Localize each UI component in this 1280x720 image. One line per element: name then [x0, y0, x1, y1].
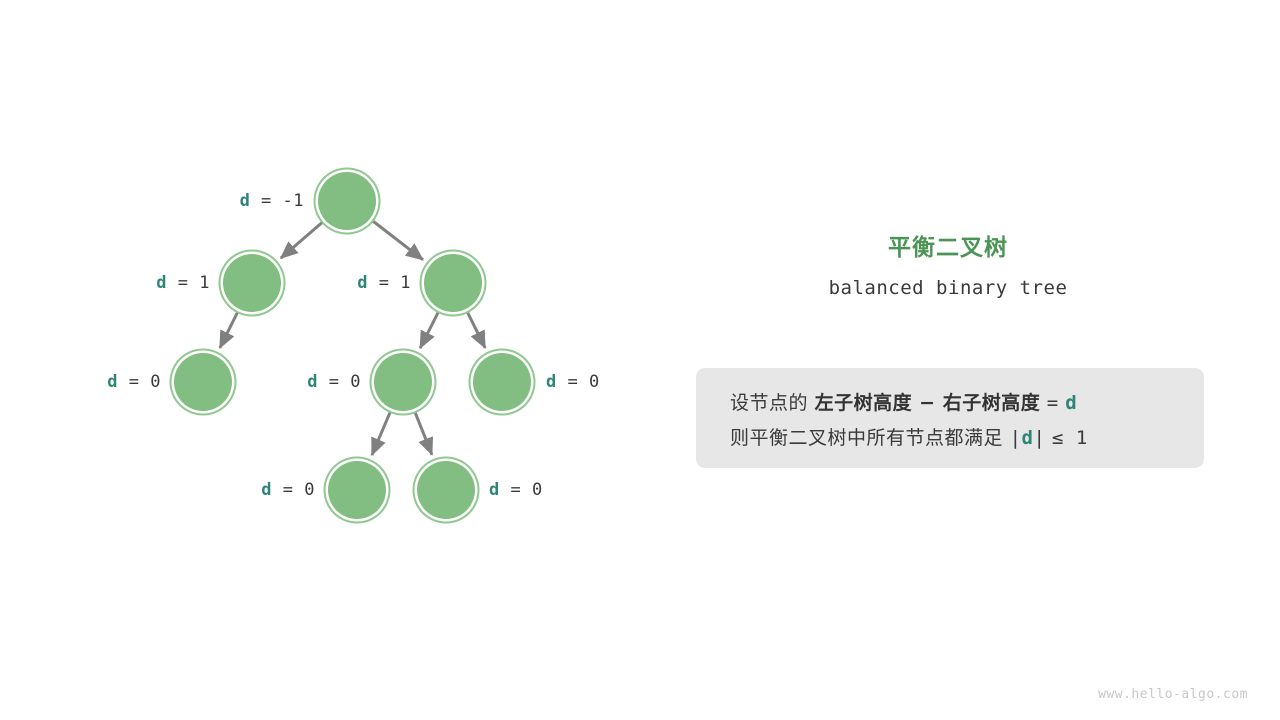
formula-bold-term: 左子树高度 − 右子树高度: [815, 392, 1041, 414]
node-balance-label: d = 0: [261, 480, 315, 500]
balance-variable: d: [261, 480, 272, 500]
tree-edge: [467, 312, 485, 348]
constraint-prefix: 则平衡二叉树中所有节点都满足: [730, 427, 1003, 449]
tree-edge: [372, 412, 390, 455]
panel-title: 平衡二叉树: [660, 228, 1236, 262]
balance-value: = 1: [167, 273, 210, 293]
balance-variable: d: [307, 372, 318, 392]
info-panel: 平衡二叉树 balanced binary tree 设节点的 左子树高度 − …: [660, 0, 1280, 720]
tree-node: [328, 461, 386, 519]
illustration-page: d = -1d = 1d = 1d = 0d = 0d = 0d = 0d = …: [0, 0, 1280, 720]
formula-equals: =: [1047, 392, 1059, 414]
tree-node: [174, 353, 232, 411]
formula-prefix: 设节点的: [730, 392, 808, 414]
balance-value: = 0: [557, 372, 600, 392]
tree-edge: [373, 221, 423, 260]
tree-node: [318, 172, 376, 230]
node-balance-label: d = 1: [357, 273, 411, 293]
tree-edge: [420, 312, 438, 348]
balance-variable: d: [546, 372, 557, 392]
formula-box: 设节点的 左子树高度 − 右子树高度 = d 则平衡二叉树中所有节点都满足 |d…: [696, 368, 1204, 468]
balance-variable: d: [240, 191, 251, 211]
tree-edge-layer: [0, 0, 660, 720]
formula-variable-d: d: [1065, 392, 1077, 414]
tree-node: [424, 254, 482, 312]
balance-value: = 0: [272, 480, 315, 500]
tree-edge: [281, 222, 323, 258]
balance-value: = 1: [368, 273, 411, 293]
panel-subtitle: balanced binary tree: [660, 277, 1236, 299]
node-balance-label: d = 0: [489, 480, 543, 500]
site-watermark: www.hello-algo.com: [1098, 687, 1248, 702]
formula-line-definition: 设节点的 左子树高度 − 右子树高度 = d: [730, 388, 1077, 415]
abs-bar-right: |: [1033, 427, 1045, 449]
balance-variable: d: [357, 273, 368, 293]
balance-value: = 0: [318, 372, 361, 392]
abs-bar-left: |: [1010, 427, 1022, 449]
node-balance-label: d = -1: [240, 191, 304, 211]
node-balance-label: d = 0: [307, 372, 361, 392]
constraint-variable-d: d: [1022, 427, 1034, 449]
binary-tree-diagram: d = -1d = 1d = 1d = 0d = 0d = 0d = 0d = …: [0, 0, 660, 720]
node-balance-label: d = 0: [107, 372, 161, 392]
balance-value: = 0: [118, 372, 161, 392]
balance-value: = -1: [250, 191, 304, 211]
tree-node: [223, 254, 281, 312]
tree-edge: [415, 412, 432, 455]
tree-edge: [220, 312, 238, 348]
constraint-suffix: ≤ 1: [1052, 427, 1088, 449]
balance-variable: d: [489, 480, 500, 500]
balance-variable: d: [107, 372, 118, 392]
tree-node: [473, 353, 531, 411]
node-balance-label: d = 0: [546, 372, 600, 392]
formula-line-constraint: 则平衡二叉树中所有节点都满足 |d| ≤ 1: [730, 423, 1088, 450]
node-balance-label: d = 1: [156, 273, 210, 293]
balance-variable: d: [156, 273, 167, 293]
tree-node: [417, 461, 475, 519]
balance-value: = 0: [500, 480, 543, 500]
tree-node: [374, 353, 432, 411]
